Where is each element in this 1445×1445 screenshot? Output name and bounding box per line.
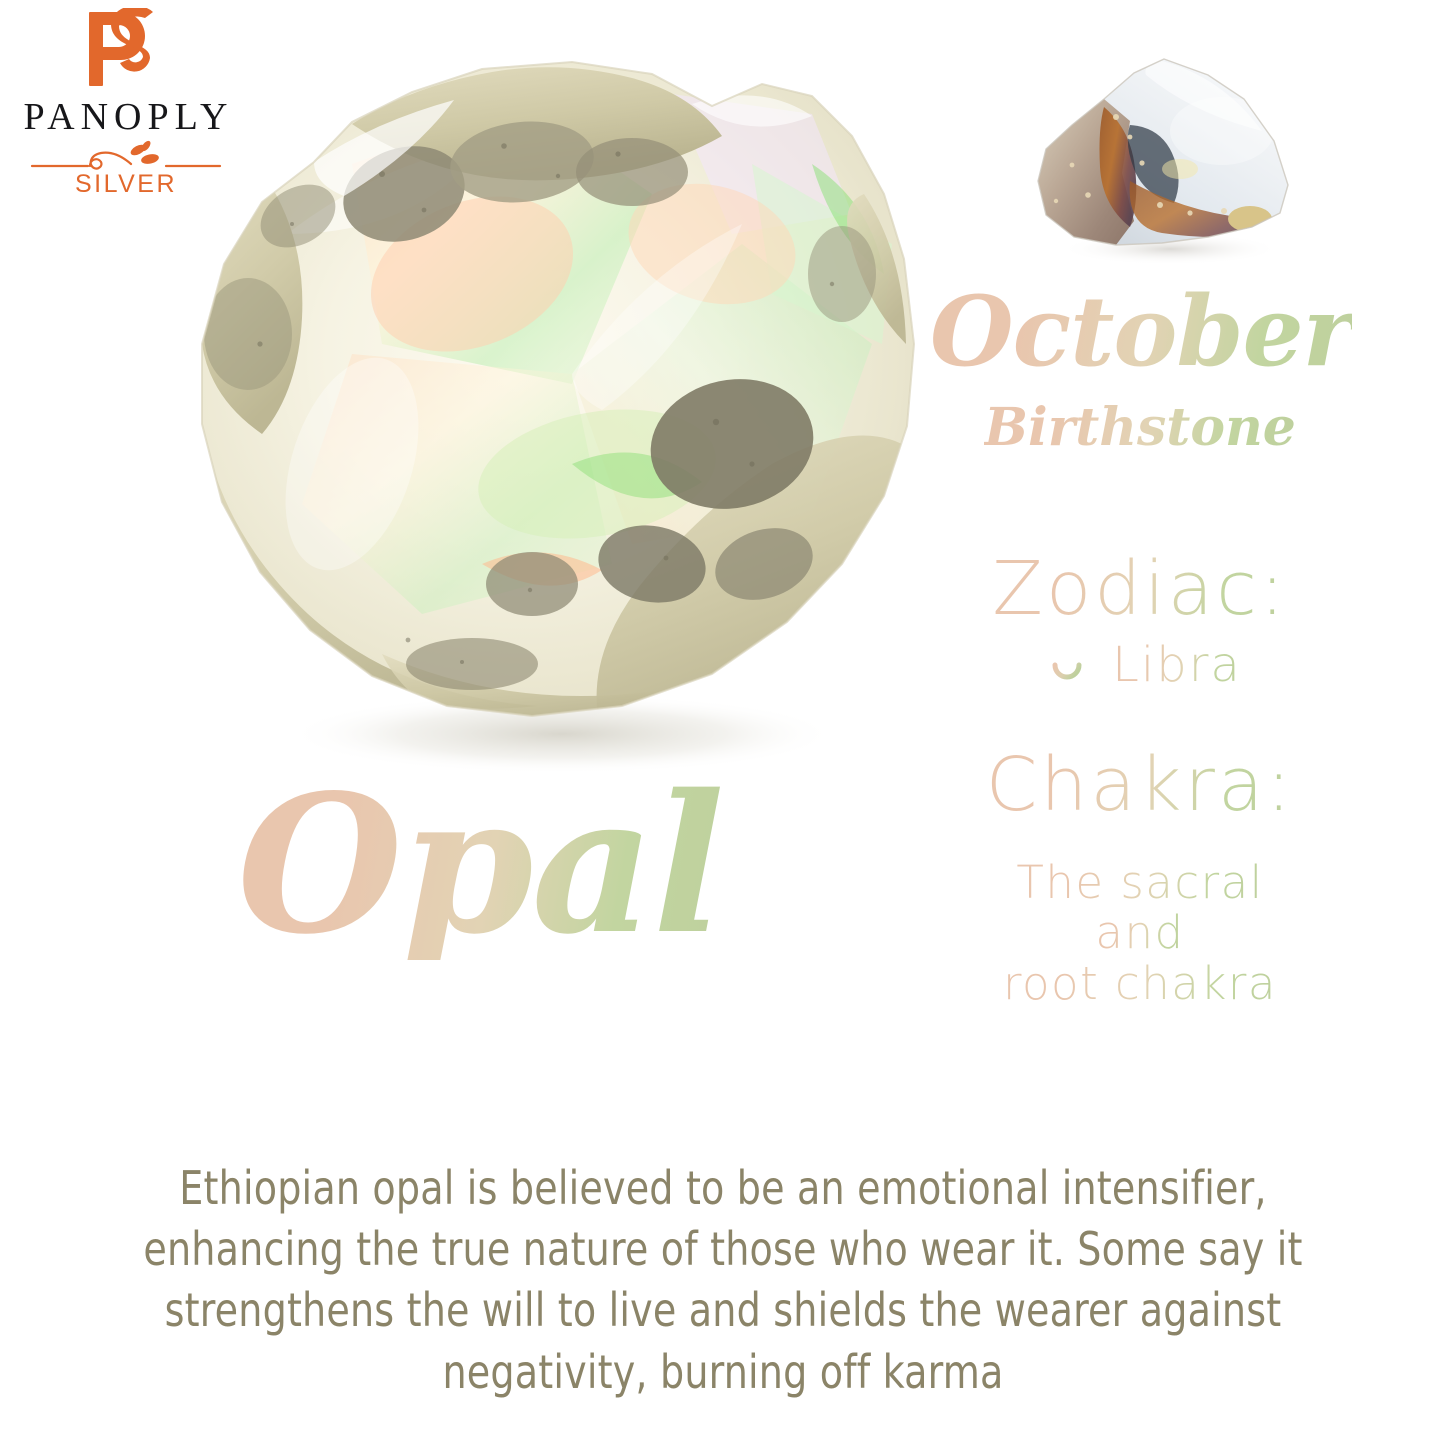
month-heading: October [930,284,1350,380]
chakra-label: Chakra: [930,748,1350,822]
chakra-value-line-1: The sacral [1016,858,1263,908]
botanical-divider-icon [18,140,234,174]
chakra-value-line-3: root chakra [1003,959,1277,1009]
thumbnail-opal-image [1012,45,1312,280]
zodiac-value-text: Libra [1112,641,1242,689]
zodiac-value-row: Libra [930,640,1350,689]
stone-name-heading: Opal [190,770,770,960]
zodiac-label: Zodiac: [930,552,1350,626]
month-heading-text: October [930,284,1352,380]
birthstone-infographic-page: PANOPLY SILVER [0,0,1445,1445]
zodiac-value: Libra [1112,641,1242,689]
chakra-value-line-2: and [1095,908,1184,958]
birthstone-subheading: Birthstone [930,402,1350,454]
brand-name: PANOPLY [18,98,234,136]
description-paragraph: Ethiopian opal is believed to be an emot… [102,1158,1344,1403]
chakra-value: The sacral and root chakra [930,858,1350,1009]
stone-name-text: Opal [237,770,723,960]
brand-logo[interactable]: PANOPLY SILVER [18,8,234,198]
libra-zodiac-icon [1038,640,1096,689]
ps-monogram-icon [18,8,234,94]
birthstone-subheading-text: Birthstone [984,402,1296,454]
zodiac-label-text: Zodiac: [992,552,1287,626]
brand-tagline: SILVER [18,172,234,197]
chakra-label-text: Chakra: [986,748,1294,822]
